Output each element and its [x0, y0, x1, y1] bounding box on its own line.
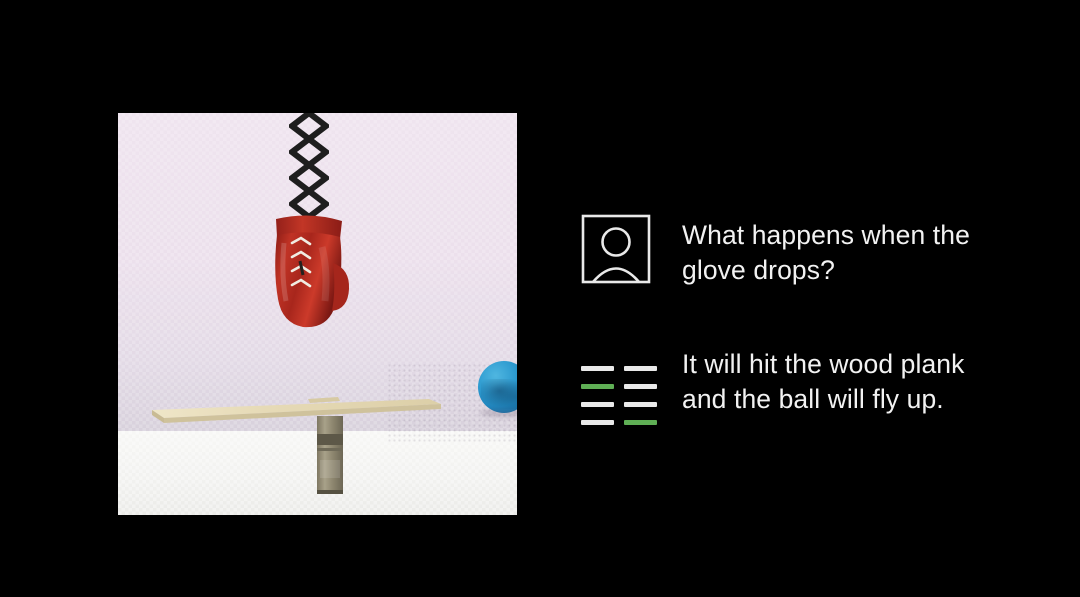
ai-dash-1-1 — [624, 384, 657, 389]
ball-mottle — [481, 379, 517, 409]
blue-ball-icon — [478, 361, 517, 413]
person-icon — [580, 213, 660, 293]
question-text: What happens when the glove drops? — [682, 213, 970, 288]
ai-dash-0-0 — [581, 366, 614, 371]
metal-fulcrum-icon — [314, 416, 348, 501]
ai-dash-2-0 — [581, 402, 614, 407]
ai-dash-3-0 — [581, 420, 614, 425]
wood-plank-icon — [152, 396, 442, 431]
ai-model-icon — [580, 342, 660, 422]
answer-row: It will hit the wood plank and the ball … — [580, 342, 1020, 422]
answer-text: It will hit the wood plank and the ball … — [682, 342, 964, 417]
boxing-glove-icon — [270, 213, 352, 340]
ai-dash-3-1 — [624, 420, 657, 425]
question-row: What happens when the glove drops? — [580, 213, 1020, 293]
ai-dash-2-1 — [624, 402, 657, 407]
conversation-panel: What happens when the glove drops? It wi… — [580, 213, 1020, 422]
scissor-spring-icon — [289, 113, 329, 228]
ai-dash-1-0 — [581, 384, 614, 389]
ai-dash-0-1 — [624, 366, 657, 371]
scene-image-panel — [118, 113, 517, 515]
